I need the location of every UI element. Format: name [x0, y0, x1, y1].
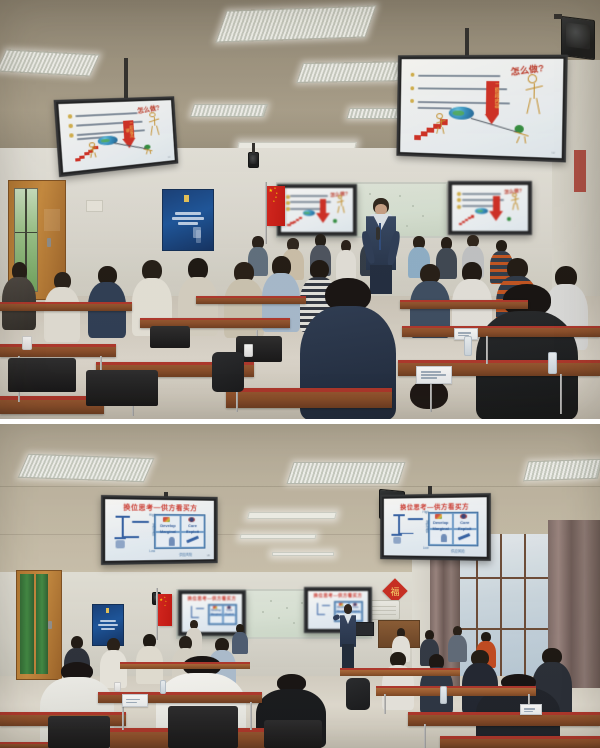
- desk: [196, 296, 306, 304]
- paper-cup: [244, 344, 253, 357]
- desk: [440, 736, 600, 748]
- desk-leg: [250, 702, 252, 730]
- chinese-national-flag: ★ ★ ★ ★ ★: [267, 186, 285, 226]
- right-wall-red-strip: [574, 150, 586, 192]
- desk: [0, 302, 132, 311]
- water-bottle: [548, 352, 557, 374]
- audience-person: [336, 240, 356, 280]
- chair: [86, 370, 158, 406]
- water-bottle: [464, 336, 472, 356]
- desk-leg: [560, 374, 562, 414]
- icon-person: [441, 534, 447, 542]
- ceiling-seam: [0, 486, 600, 487]
- slide-page-number: 18: [207, 554, 210, 558]
- photo-composite: 二阶段内容 怎么做?: [0, 0, 600, 748]
- presenter-head: [344, 604, 353, 614]
- icon-badge: [188, 517, 194, 522]
- speaker-mount: [252, 143, 255, 153]
- desk: [408, 712, 600, 726]
- stick-figure-climber: [88, 146, 99, 157]
- desk-leg: [424, 724, 426, 748]
- bottom-photograph: 福 换位思考—供方看买方: [0, 424, 600, 748]
- screen-hanging-right: 换位思考—供方看买方: [380, 493, 491, 561]
- matrix-label-exploit: Exploit: [453, 527, 477, 531]
- axis-caption: 供应风险: [440, 548, 476, 553]
- door-handle[interactable]: [47, 238, 51, 247]
- axis-label-bottom: Low: [420, 545, 432, 549]
- icon-cube: [435, 514, 442, 519]
- ceiling-light: [272, 552, 334, 556]
- water-bottle: [440, 686, 447, 704]
- axis-label-top: High: [420, 510, 432, 514]
- desk: [376, 686, 536, 696]
- ceiling-light: [247, 512, 337, 519]
- red-down-arrow: 二阶段内容: [485, 81, 499, 114]
- red-down-arrow: [493, 196, 500, 211]
- green-window-blinds: [20, 574, 34, 674]
- ceiling-light: [286, 462, 405, 484]
- backpack: [212, 352, 244, 392]
- stick-figure-thinker: [523, 83, 546, 115]
- slide-title: 换位思考—供方看买方: [384, 500, 487, 511]
- chair: [8, 358, 76, 392]
- presenter-trousers: [342, 644, 354, 670]
- green-window-blinds: [36, 574, 48, 674]
- red-down-arrow: [320, 199, 326, 213]
- speaker-mount: [554, 14, 562, 19]
- water-bottle: [160, 680, 166, 694]
- matrix-label-marginal: Marginal: [429, 527, 453, 531]
- axis-label-left: 采购金额: [420, 520, 428, 533]
- name-card: [520, 704, 542, 715]
- desk: [340, 668, 460, 676]
- stick-figure-fallen: [511, 132, 536, 147]
- arrow-label: 二阶段内容: [485, 83, 498, 108]
- slide-title: 换位思考—供方看买方: [182, 596, 242, 602]
- slide-title: 换位思考—供方看买方: [105, 502, 214, 513]
- axis-label-bottom: Low: [146, 549, 159, 553]
- paper-cup: [22, 336, 32, 350]
- ceiling-light: [190, 104, 268, 117]
- audience-person: [420, 654, 453, 714]
- stick-figure-head: [527, 75, 536, 84]
- panel-mount-arm: [465, 28, 469, 58]
- screen-hanging-left: 换位思考—供方看买方: [101, 495, 218, 565]
- flow-diagram: [390, 513, 424, 546]
- microphone-icon: [376, 227, 380, 240]
- matrix-2x2: Develop Core Marginal Exploit: [428, 512, 478, 546]
- matrix-label-marginal: Marginal: [155, 530, 180, 534]
- stick-figure-head-green: [333, 219, 337, 223]
- slide-supply-matrix: 换位思考—供方看买方: [384, 497, 487, 557]
- ceiling-light: [215, 5, 376, 42]
- paper-cup: [114, 682, 121, 692]
- ceiling-light: [239, 534, 316, 539]
- icon-badge: [460, 514, 466, 519]
- axis-label-left: 采购金额: [146, 523, 155, 536]
- ceiling-light: [296, 61, 414, 83]
- top-photograph: 二阶段内容 怎么做?: [0, 0, 600, 420]
- matrix-label-exploit: Exploit: [223, 614, 236, 617]
- matrix-label-core: Core: [453, 521, 477, 526]
- screen-front-left: 怎么做?: [277, 184, 357, 236]
- flow-diagram: [112, 515, 150, 551]
- desk: [120, 662, 250, 669]
- matrix-label-develop: Develop: [429, 521, 453, 525]
- fu-glyph: 福: [386, 582, 404, 600]
- desk: [400, 300, 528, 309]
- desk-leg: [384, 694, 386, 714]
- ceiling-speaker-icon: [248, 152, 259, 168]
- matrix-label-exploit: Exploit: [180, 530, 204, 534]
- axis-caption: 供应风险: [167, 551, 203, 556]
- screen-hanging-left: 二阶段内容 怎么做?: [54, 96, 179, 177]
- door-plate: [44, 209, 60, 231]
- name-card: [416, 366, 452, 384]
- matrix-2x2: Develop Core Marginal Exploit: [154, 514, 205, 549]
- slide-supply-matrix: 换位思考—供方看买方: [105, 499, 214, 561]
- audience-person: [2, 262, 36, 330]
- icon-cube: [162, 517, 169, 522]
- axis-label-top: High: [146, 512, 159, 516]
- stick-figure-thinker: [336, 199, 345, 212]
- wall-banner-poster: [162, 189, 214, 251]
- panel-mount-arm: [124, 58, 128, 102]
- slide-page-number: 12: [168, 155, 171, 159]
- desk: [226, 388, 392, 408]
- arrow-label: 二阶段内容: [123, 121, 134, 138]
- ceiling-light: [523, 459, 600, 482]
- screen-front-right: 怎么做?: [448, 181, 532, 235]
- icon-person: [168, 537, 174, 546]
- wall-speaker-icon: [561, 16, 595, 60]
- matrix-label-marginal: Marginal: [209, 614, 222, 617]
- slide-arrow-globe: 怎么做?: [452, 185, 528, 231]
- name-card: [122, 694, 148, 707]
- matrix-label-develop: Develop: [155, 524, 180, 528]
- slide-arrow-globe: 二阶段内容 怎么做?: [400, 59, 563, 158]
- chair: [168, 706, 238, 748]
- slide-arrow-globe: 二阶段内容 怎么做?: [58, 100, 174, 172]
- matrix-2x2: Develop Core Marginal Exploit: [208, 604, 237, 625]
- red-stairs: [287, 217, 305, 227]
- stick-figure-head-green: [507, 217, 512, 221]
- stick-figure-thinker: [511, 197, 521, 211]
- chair: [150, 326, 190, 348]
- slide-arrow-globe: 怎么做?: [281, 188, 353, 232]
- backpack: [346, 678, 370, 710]
- flow-diagram: [312, 602, 331, 623]
- chair: [48, 716, 110, 748]
- chair: [264, 720, 322, 748]
- audience-person: [382, 652, 414, 710]
- red-down-arrow: 二阶段内容: [123, 120, 134, 138]
- desk: [402, 326, 600, 337]
- ceiling-light: [18, 454, 155, 482]
- slide-page-number: 12: [551, 151, 555, 155]
- door-handle[interactable]: [48, 621, 52, 629]
- presenter-tie: [379, 223, 381, 250]
- desk-leg: [486, 336, 488, 364]
- wall-sign: [86, 200, 103, 212]
- red-stairs: [459, 215, 478, 225]
- audience-person-foreground: [386, 380, 472, 420]
- stick-figure-climber: [434, 118, 448, 134]
- chinese-national-flag: ★ ★ ★ ★: [158, 594, 172, 626]
- stick-figure-thinker: [148, 117, 163, 136]
- matrix-label-core: Core: [180, 524, 204, 528]
- presenter-pointing-at-screen: [338, 604, 358, 670]
- ceiling-light: [0, 50, 100, 77]
- screen-hanging-right: 二阶段内容 怎么做?: [396, 55, 567, 163]
- slide-title: 换位思考—供方看买方: [308, 593, 368, 599]
